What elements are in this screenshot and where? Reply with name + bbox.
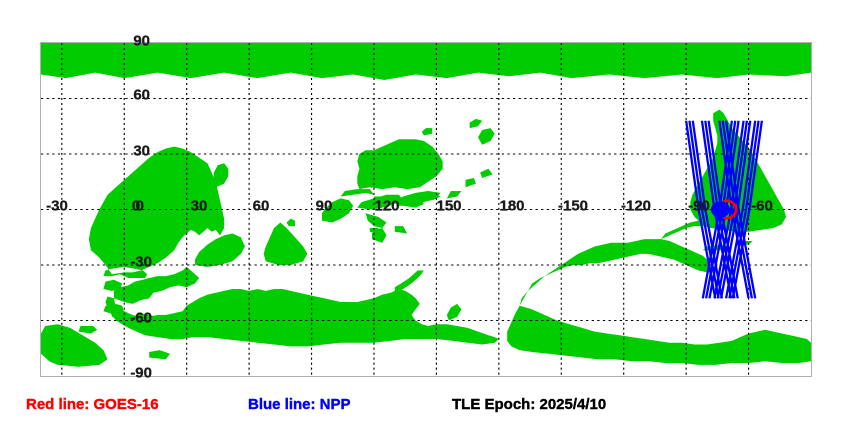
land-new-guinea bbox=[395, 191, 441, 206]
land-iceland bbox=[78, 326, 97, 333]
land-australia bbox=[357, 139, 442, 189]
lon-tick-30: 30 bbox=[191, 199, 208, 214]
lat-tick-30: 30 bbox=[133, 144, 150, 159]
lat-tick-60: 60 bbox=[133, 88, 150, 103]
legend-blue-line-npp: Blue line: NPP bbox=[248, 393, 351, 417]
land-svalbard bbox=[149, 350, 170, 359]
land-kamchatka bbox=[447, 304, 462, 321]
land-greenland bbox=[41, 324, 108, 367]
lon-tick-180: 180 bbox=[499, 199, 524, 214]
land-madagascar bbox=[214, 163, 229, 187]
legend-tle-epoch: TLE Epoch: 2025/4/10 bbox=[452, 393, 606, 417]
land-new-zealand bbox=[470, 119, 495, 145]
lon-tick--150: -150 bbox=[558, 199, 588, 214]
lon-tick-90: 90 bbox=[316, 199, 333, 214]
land-sri-lanka bbox=[287, 219, 295, 226]
land-india bbox=[264, 222, 308, 265]
lon-tick--30: -30 bbox=[46, 199, 68, 214]
land-melanesia bbox=[447, 169, 493, 199]
lat-tick-0: 0 bbox=[136, 199, 144, 214]
lat-tick-90: 90 bbox=[133, 34, 150, 49]
lon-tick-150: 150 bbox=[436, 199, 461, 214]
lon-tick--60: -60 bbox=[751, 199, 773, 214]
lon-tick--120: -120 bbox=[621, 199, 651, 214]
legend-red-line-goes16: Red line: GOES-16 bbox=[26, 393, 159, 417]
npp-convergence-marker bbox=[711, 201, 730, 217]
lon-tick-60: 60 bbox=[253, 199, 270, 214]
legend-caption: Red line: GOES-16 Blue line: NPP TLE Epo… bbox=[0, 393, 850, 417]
land-japan bbox=[395, 271, 424, 293]
land-antarctica bbox=[41, 43, 811, 80]
land-tasmania bbox=[422, 128, 432, 135]
lat-tick--90: -90 bbox=[130, 366, 152, 381]
land-arabia bbox=[195, 234, 245, 267]
lat-tick--60: -60 bbox=[130, 311, 152, 326]
lat-tick--30: -30 bbox=[130, 255, 152, 270]
lon-tick-120: 120 bbox=[374, 199, 399, 214]
lon-tick--90: -90 bbox=[688, 199, 710, 214]
